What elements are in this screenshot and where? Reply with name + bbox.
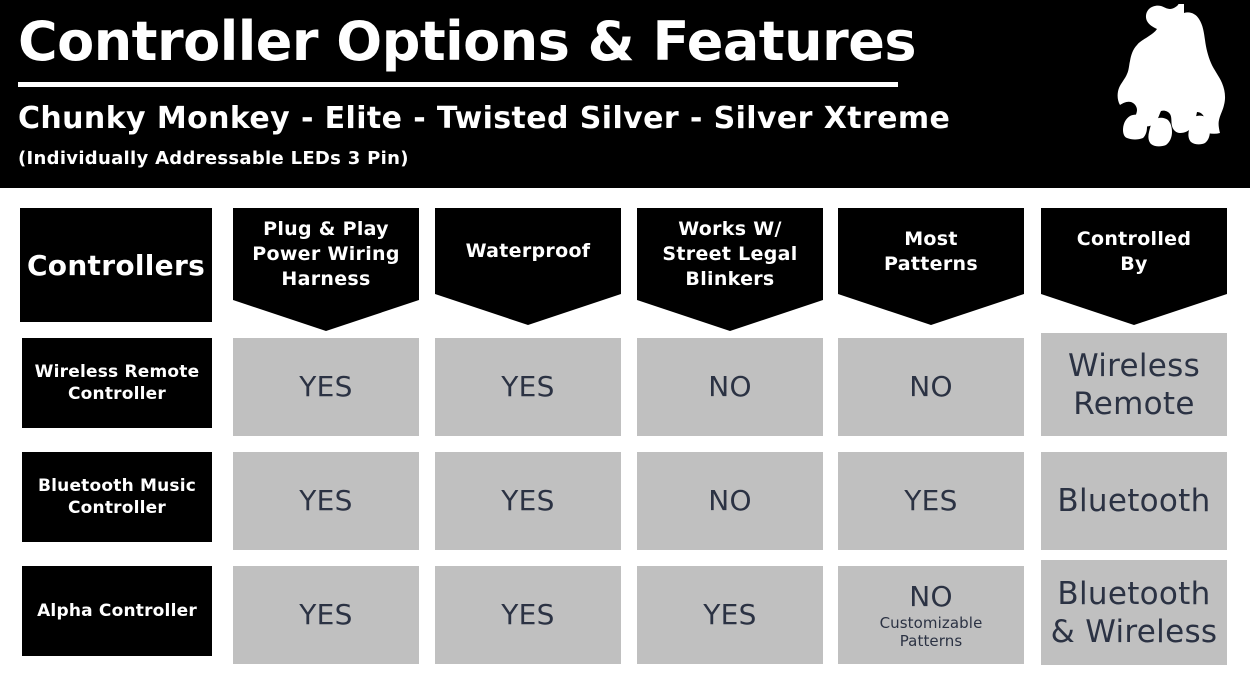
column-header-label: Waterproof <box>435 208 621 294</box>
header-line: Controlled <box>1077 227 1192 252</box>
table-cell: NO Customizable Patterns <box>838 566 1024 664</box>
row-label-line: Wireless Remote <box>35 361 200 383</box>
table-cell: Wireless Remote <box>1041 333 1227 436</box>
table-cell: NO <box>637 338 823 436</box>
row-header-wireless-remote-controller: Wireless Remote Controller <box>22 338 212 428</box>
header-line: Harness <box>252 267 399 292</box>
column-header-street-legal-blinkers: Works W/ Street Legal Blinkers <box>637 208 823 331</box>
table-corner-header: Controllers <box>20 208 212 322</box>
title-divider <box>18 82 898 87</box>
features-table: Controllers Plug & Play Power Wiring Har… <box>0 188 1250 700</box>
gorilla-logo-icon <box>1110 4 1236 154</box>
row-label-line: Bluetooth Music <box>38 475 196 497</box>
infographic-page: Controller Options & Features Chunky Mon… <box>0 0 1250 700</box>
table-cell: YES <box>435 452 621 550</box>
row-header-bluetooth-music-controller: Bluetooth Music Controller <box>22 452 212 542</box>
cell-line: NO <box>909 580 953 614</box>
cell-line: Bluetooth <box>1057 575 1210 613</box>
cell-line: Wireless <box>1068 347 1200 385</box>
table-cell: YES <box>637 566 823 664</box>
table-cell: YES <box>233 566 419 664</box>
column-header-controlled-by: Controlled By <box>1041 208 1227 325</box>
row-header-alpha-controller: Alpha Controller <box>22 566 212 656</box>
table-cell: NO <box>838 338 1024 436</box>
cell-subtext-line: Patterns <box>900 632 963 650</box>
table-cell: Bluetooth <box>1041 452 1227 550</box>
table-cell: Bluetooth & Wireless <box>1041 560 1227 665</box>
row-label-line: Controller <box>35 383 200 405</box>
page-title: Controller Options & Features <box>18 8 916 76</box>
header-line: Street Legal <box>662 242 797 267</box>
header-line: Patterns <box>884 252 978 277</box>
cell-line: & Wireless <box>1051 613 1218 651</box>
table-cell: YES <box>233 338 419 436</box>
header-banner: Controller Options & Features Chunky Mon… <box>0 0 1250 188</box>
cell-line: Remote <box>1073 385 1194 423</box>
header-line: By <box>1077 252 1192 277</box>
column-header-waterproof: Waterproof <box>435 208 621 325</box>
column-header-label: Most Patterns <box>838 208 1024 294</box>
cell-subtext-line: Customizable <box>880 614 983 632</box>
chevron-point-icon <box>435 294 621 325</box>
row-label-line: Alpha Controller <box>37 600 197 622</box>
header-line: Waterproof <box>466 239 591 264</box>
table-cell: NO <box>637 452 823 550</box>
cell-line: Bluetooth <box>1057 482 1210 520</box>
header-line: Power Wiring <box>252 242 399 267</box>
header-line: Blinkers <box>662 267 797 292</box>
header-line: Plug & Play <box>252 217 399 242</box>
header-line: Works W/ <box>662 217 797 242</box>
chevron-point-icon <box>637 300 823 331</box>
row-label-line: Controller <box>38 497 196 519</box>
column-header-plug-and-play: Plug & Play Power Wiring Harness <box>233 208 419 331</box>
table-cell: YES <box>838 452 1024 550</box>
column-header-label: Works W/ Street Legal Blinkers <box>637 208 823 300</box>
column-header-label: Controlled By <box>1041 208 1227 294</box>
chevron-point-icon <box>838 294 1024 325</box>
table-cell: YES <box>435 338 621 436</box>
product-list-subtitle: Chunky Monkey - Elite - Twisted Silver -… <box>18 98 950 140</box>
column-header-label: Plug & Play Power Wiring Harness <box>233 208 419 300</box>
column-header-most-patterns: Most Patterns <box>838 208 1024 325</box>
table-cell: YES <box>435 566 621 664</box>
header-line: Most <box>884 227 978 252</box>
led-note: (Individually Addressable LEDs 3 Pin) <box>18 146 409 172</box>
table-cell: YES <box>233 452 419 550</box>
chevron-point-icon <box>233 300 419 331</box>
chevron-point-icon <box>1041 294 1227 325</box>
